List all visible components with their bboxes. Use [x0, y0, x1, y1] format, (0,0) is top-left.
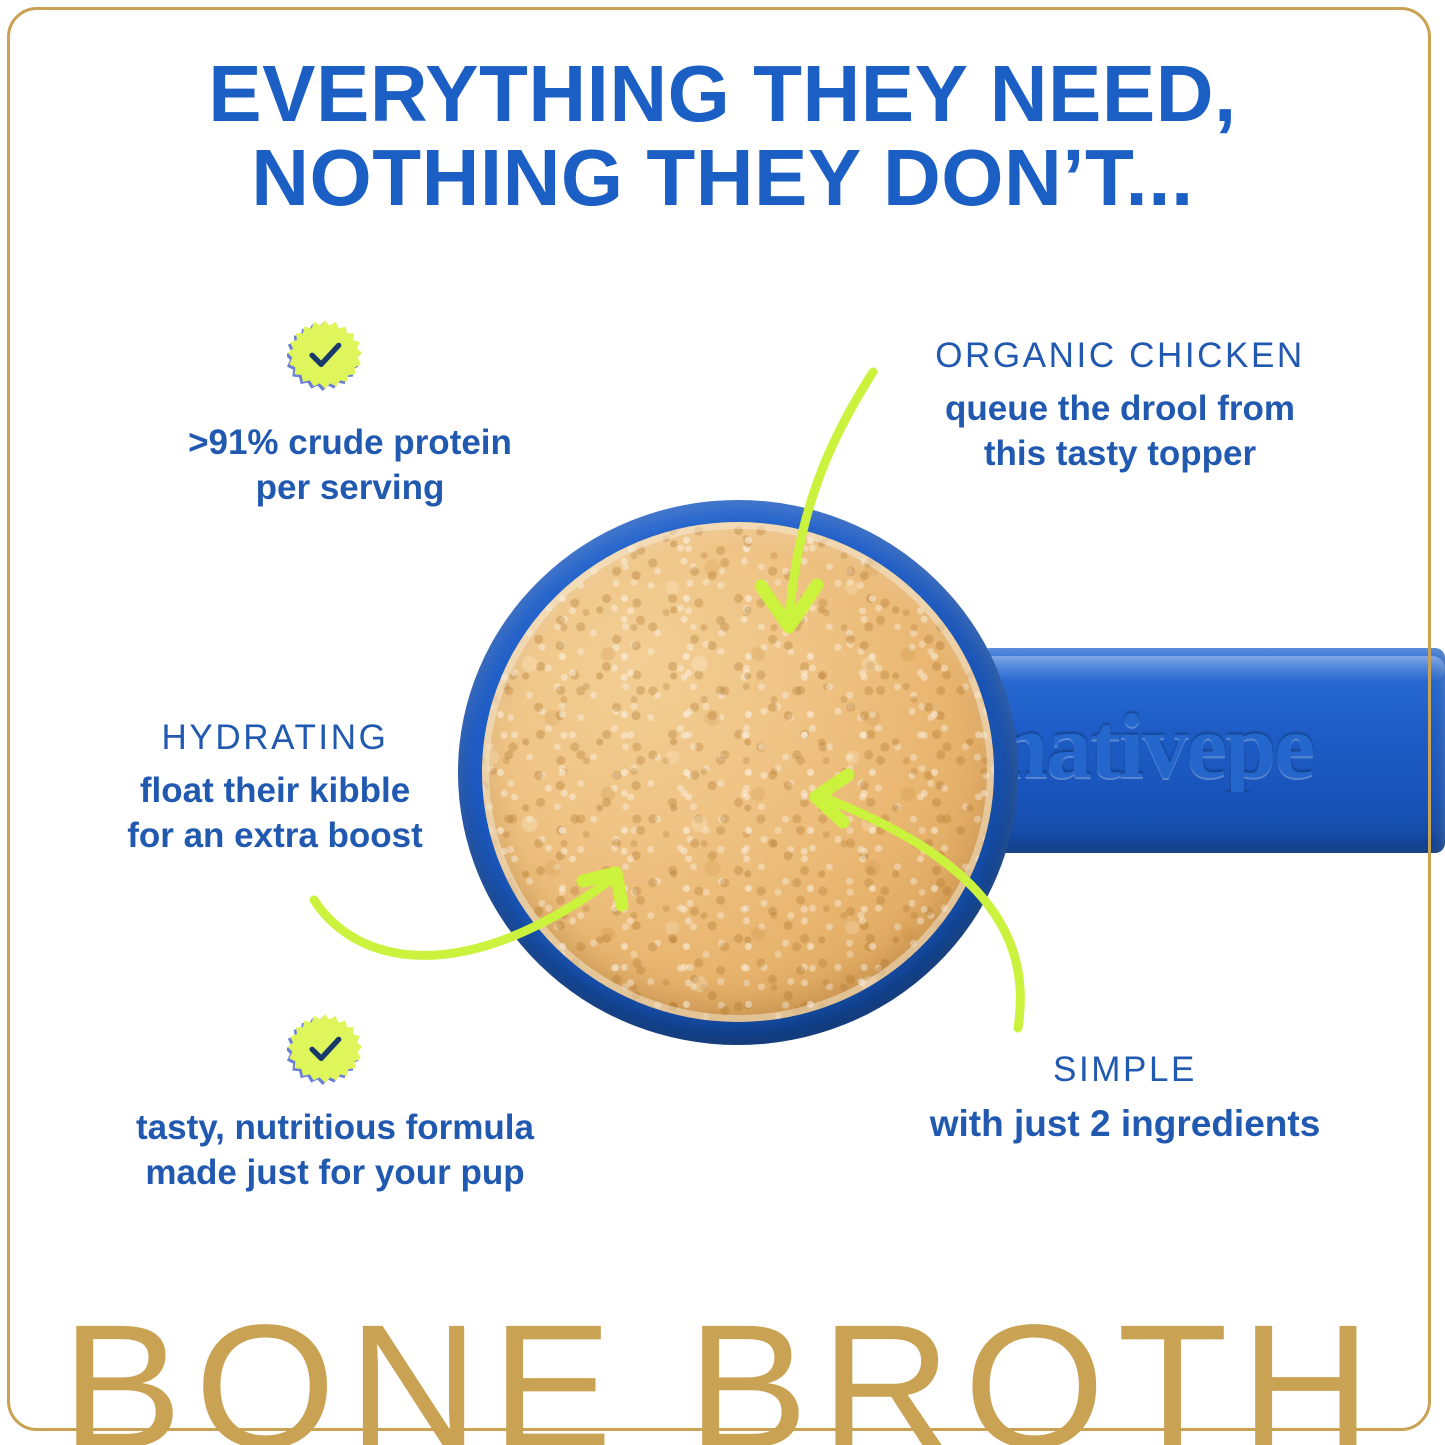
feature-simple-title: SIMPLE — [905, 1050, 1345, 1090]
feature-tasty-formula-line-1: tasty, nutritious formula — [136, 1108, 534, 1147]
product-infographic-card: EVERYTHING THEY NEED, NOTHING THEY DON’T… — [0, 0, 1445, 1445]
handle-embossed-logo: nativepe — [997, 700, 1445, 792]
feature-organic-chicken-line-1: queue the drool from — [945, 389, 1295, 428]
feature-simple-body: with just 2 ingredients — [905, 1100, 1345, 1147]
measuring-scoop-image: nativepe — [430, 480, 1445, 1060]
feature-hydrating-line-2: for an extra boost — [127, 816, 423, 855]
feature-protein-body: >91% crude protein per serving — [110, 420, 590, 510]
feature-organic-chicken: ORGANIC CHICKEN queue the drool from thi… — [870, 336, 1370, 476]
feature-simple-line-1: with just 2 ingredients — [930, 1103, 1321, 1144]
feature-tasty-formula-line-2: made just for your pup — [145, 1153, 524, 1192]
feature-protein: >91% crude protein per serving — [110, 410, 590, 510]
feature-hydrating-line-1: float their kibble — [140, 771, 410, 810]
feature-tasty-formula: tasty, nutritious formula made just for … — [85, 1095, 585, 1195]
scoop-cup — [458, 500, 1018, 1045]
headline-line-2: NOTHING THEY DON’T... — [0, 136, 1445, 220]
check-badge-icon — [287, 1012, 363, 1088]
feature-organic-chicken-line-2: this tasty topper — [984, 434, 1256, 473]
page-title: EVERYTHING THEY NEED, NOTHING THEY DON’T… — [0, 52, 1445, 220]
bone-broth-powder — [482, 522, 994, 1022]
headline-line-1: EVERYTHING THEY NEED, — [0, 52, 1445, 136]
powder-texture-fine — [482, 522, 994, 1022]
feature-hydrating-body: float their kibble for an extra boost — [55, 768, 495, 858]
feature-hydrating-title: HYDRATING — [55, 718, 495, 758]
check-badge-icon — [287, 318, 363, 394]
feature-protein-line-2: per serving — [256, 468, 445, 507]
feature-protein-line-1: >91% crude protein — [188, 423, 512, 462]
feature-simple: SIMPLE with just 2 ingredients — [905, 1050, 1345, 1147]
feature-tasty-formula-body: tasty, nutritious formula made just for … — [85, 1105, 585, 1195]
product-wordmark: BONE BROTH — [0, 1299, 1445, 1445]
feature-organic-chicken-title: ORGANIC CHICKEN — [870, 336, 1370, 376]
feature-hydrating: HYDRATING float their kibble for an extr… — [55, 718, 495, 858]
feature-organic-chicken-body: queue the drool from this tasty topper — [870, 386, 1370, 476]
scoop-handle: nativepe — [975, 648, 1445, 853]
powder-texture-coarse — [482, 522, 994, 1022]
